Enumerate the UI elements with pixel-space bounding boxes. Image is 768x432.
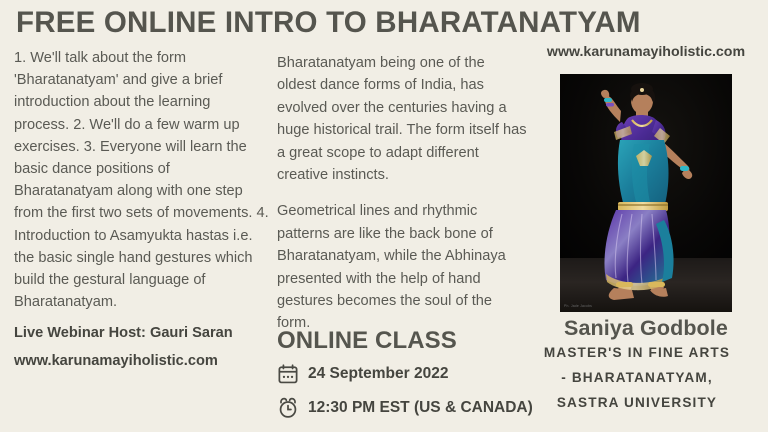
credential-line-1: MASTER'S IN FINE ARTS	[506, 345, 768, 360]
left-website-link[interactable]: www.karunamayiholistic.com	[14, 349, 269, 374]
photo-credit: Ph. Jade Jacobs	[564, 304, 592, 308]
right-website-link[interactable]: www.karunamayiholistic.com	[524, 44, 768, 60]
left-column: 1. We'll talk about the form 'Bharatanat…	[14, 47, 269, 374]
middle-column: Bharatanatyam being one of the oldest da…	[277, 52, 527, 335]
class-time-label: 12:30 PM EST (US & CANADA)	[308, 399, 533, 417]
poster-canvas: FREE ONLINE INTRO TO BHARATANATYAM 1. We…	[0, 0, 768, 432]
class-time-row: 12:30 PM EST (US & CANADA)	[277, 397, 533, 419]
about-paragraph-1: Bharatanatyam being one of the oldest da…	[277, 52, 527, 186]
online-class-heading: ONLINE CLASS	[277, 327, 457, 355]
dancer-photo: Ph. Jade Jacobs	[560, 74, 732, 312]
webinar-host-line: Live Webinar Host: Gauri Saran	[14, 321, 269, 346]
dancer-figure	[560, 74, 732, 312]
alarm-clock-icon	[277, 397, 299, 419]
credential-line-2: - BHARATANATYAM,	[506, 370, 768, 385]
calendar-icon	[277, 363, 299, 385]
class-date-row: 24 September 2022	[277, 363, 448, 385]
credential-line-3: SASTRA UNIVERSITY	[506, 395, 768, 410]
course-outline-text: 1. We'll talk about the form 'Bharatanat…	[14, 47, 269, 313]
performer-name: Saniya Godbole	[524, 316, 768, 341]
about-paragraph-2: Geometrical lines and rhythmic patterns …	[277, 200, 527, 334]
class-date-label: 24 September 2022	[308, 365, 448, 383]
page-title: FREE ONLINE INTRO TO BHARATANATYAM	[16, 6, 756, 40]
